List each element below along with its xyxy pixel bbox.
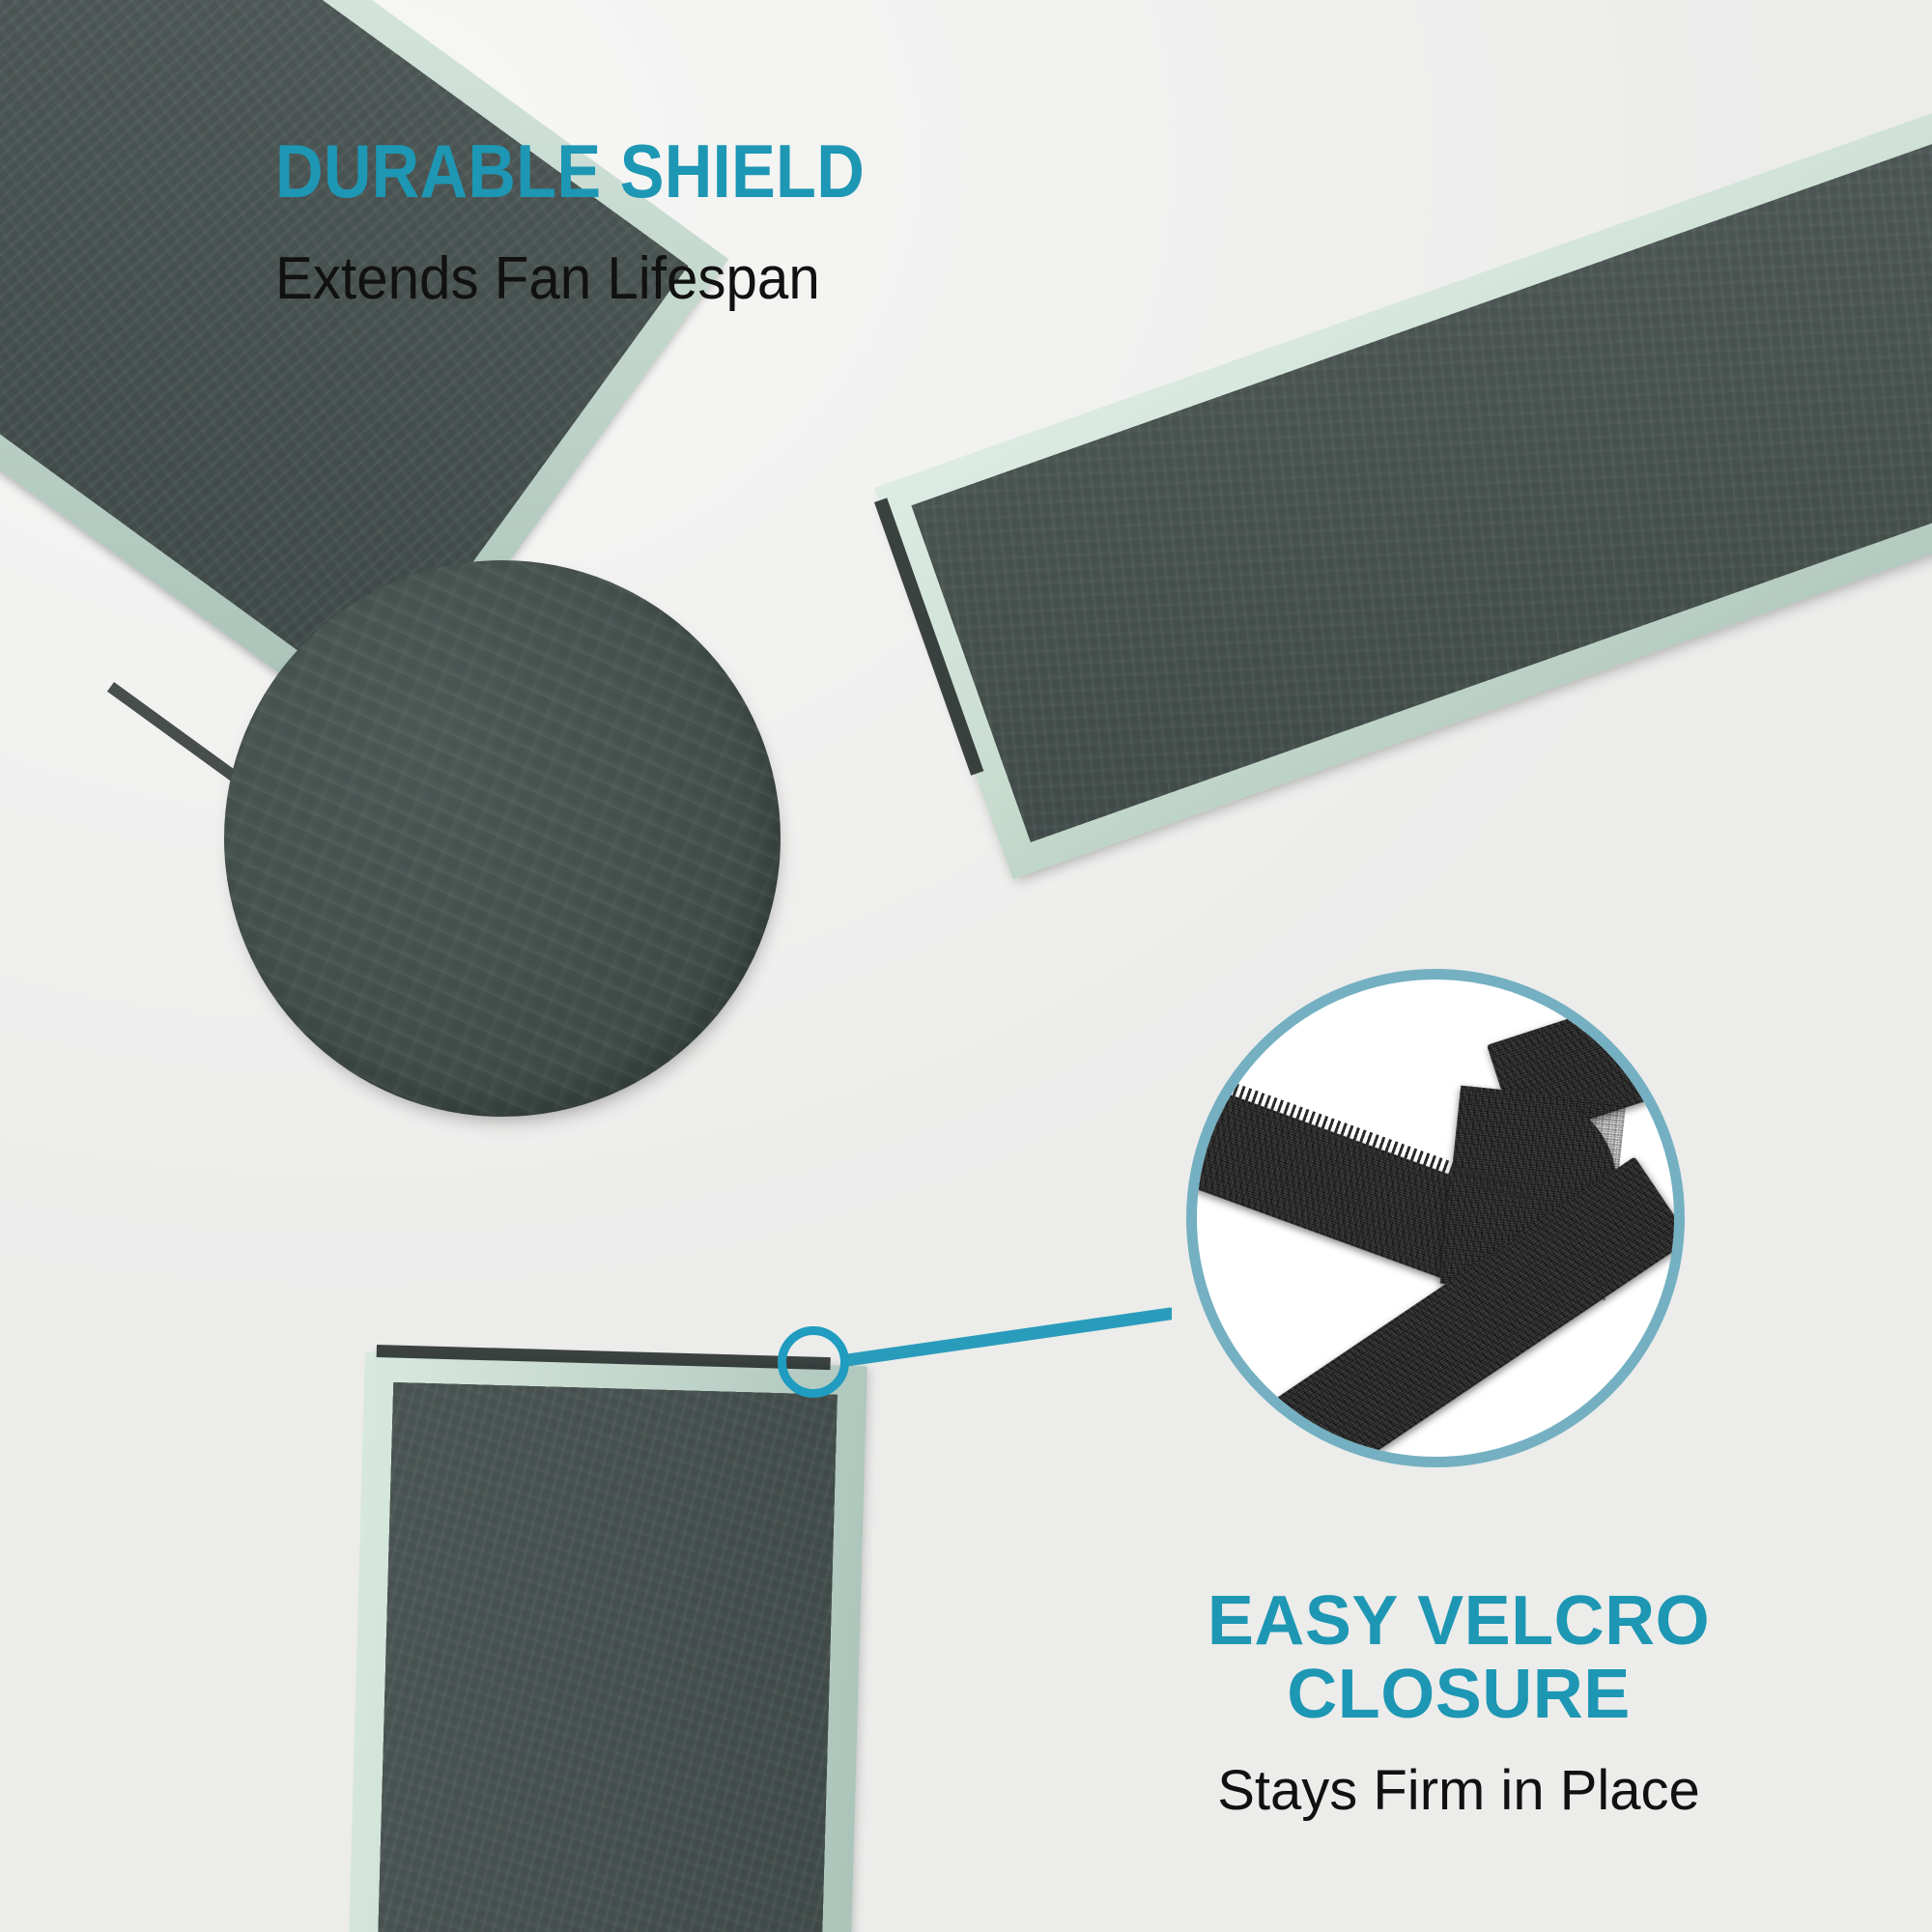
- velcro-title-line2: CLOSURE: [1140, 1658, 1777, 1731]
- product-infographic: DURABLE SHIELD Extends Fan Lifespan EASY…: [0, 0, 1932, 1932]
- page-title: DURABLE SHIELD: [275, 133, 865, 209]
- blade-texture-bottom: [375, 1382, 838, 1932]
- fan-blade-right: [874, 49, 1932, 879]
- velcro-title-line1: EASY VELCRO: [1140, 1584, 1777, 1658]
- velcro-callout-text: EASY VELCRO CLOSURE Stays Firm in Place: [1140, 1584, 1777, 1824]
- fan-blade-bottom: [345, 1352, 867, 1932]
- callout-line-icon: [845, 1306, 1172, 1366]
- circle-marker-icon: [778, 1326, 849, 1398]
- page-subtitle: Extends Fan Lifespan: [275, 249, 820, 309]
- hub-texture: [224, 560, 781, 1117]
- magnifier-circle-icon: [1186, 969, 1685, 1467]
- fan-hub-circle: [224, 560, 781, 1117]
- blade-texture-right: [911, 86, 1932, 842]
- velcro-subtitle: Stays Firm in Place: [1140, 1757, 1777, 1825]
